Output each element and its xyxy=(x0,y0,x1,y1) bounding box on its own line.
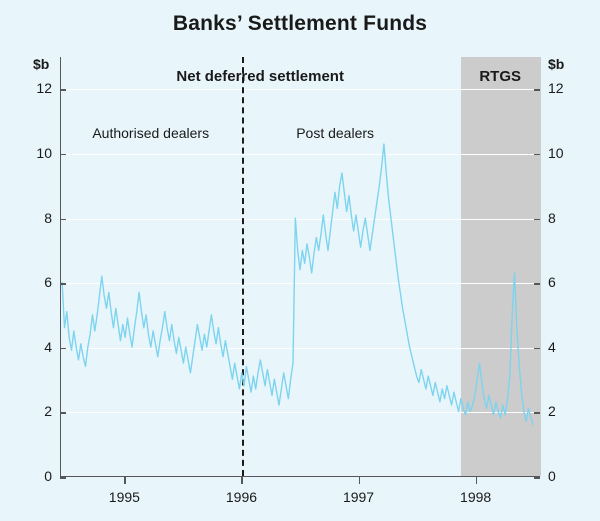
y-axis-tick-label-left: 6 xyxy=(12,274,52,290)
y-tickmark-right xyxy=(534,477,540,479)
y-axis-tick-label-right: 2 xyxy=(548,403,588,419)
y-axis-unit-right: $b xyxy=(548,56,564,72)
y-axis-tick-label-left: 2 xyxy=(12,403,52,419)
settlement-funds-line xyxy=(61,57,539,476)
y-tickmark-left xyxy=(60,283,66,285)
plot-area xyxy=(60,57,540,477)
x-axis-tick-label: 1996 xyxy=(211,489,271,505)
y-tickmark-left xyxy=(60,477,66,479)
y-tickmark-left xyxy=(60,412,66,414)
y-axis-tick-label-left: 12 xyxy=(12,80,52,96)
chart-container: Banks’ Settlement Funds $b $b 024681012 … xyxy=(0,0,600,521)
y-axis-tick-label-right: 4 xyxy=(548,339,588,355)
annotation-post-dealers: Post dealers xyxy=(296,125,374,141)
y-tickmark-left xyxy=(60,219,66,221)
y-tickmark-right xyxy=(534,219,540,221)
page-title: Banks’ Settlement Funds xyxy=(0,12,600,36)
y-axis-tick-label-right: 10 xyxy=(548,145,588,161)
x-tickmark xyxy=(124,477,126,484)
y-axis-tick-label-right: 12 xyxy=(548,80,588,96)
y-axis-tick-label-right: 6 xyxy=(548,274,588,290)
y-axis-tick-label-left: 8 xyxy=(12,210,52,226)
y-axis-tick-label-left: 0 xyxy=(12,468,52,484)
y-tickmark-left xyxy=(60,89,66,91)
x-axis-tick-label: 1995 xyxy=(94,489,154,505)
y-tickmark-right xyxy=(534,89,540,91)
annotation-authorised-dealers: Authorised dealers xyxy=(92,125,209,141)
y-axis-tick-label-right: 0 xyxy=(548,468,588,484)
y-axis-unit-left: $b xyxy=(33,56,49,72)
x-axis-tick-label: 1998 xyxy=(446,489,506,505)
y-axis-tick-label-right: 8 xyxy=(548,210,588,226)
y-tickmark-right xyxy=(534,412,540,414)
x-axis-tick-label: 1997 xyxy=(329,489,389,505)
y-tickmark-left xyxy=(60,154,66,156)
y-tickmark-left xyxy=(60,348,66,350)
x-tickmark xyxy=(241,477,243,484)
y-tickmark-right xyxy=(534,154,540,156)
y-axis-tick-label-left: 4 xyxy=(12,339,52,355)
annotation-rtgs: RTGS xyxy=(479,68,521,85)
y-tickmark-right xyxy=(534,283,540,285)
x-tickmark xyxy=(476,477,478,484)
annotation-net-deferred-settlement: Net deferred settlement xyxy=(176,68,344,85)
x-tickmark xyxy=(359,477,361,484)
y-axis-tick-label-left: 10 xyxy=(12,145,52,161)
y-tickmark-right xyxy=(534,348,540,350)
